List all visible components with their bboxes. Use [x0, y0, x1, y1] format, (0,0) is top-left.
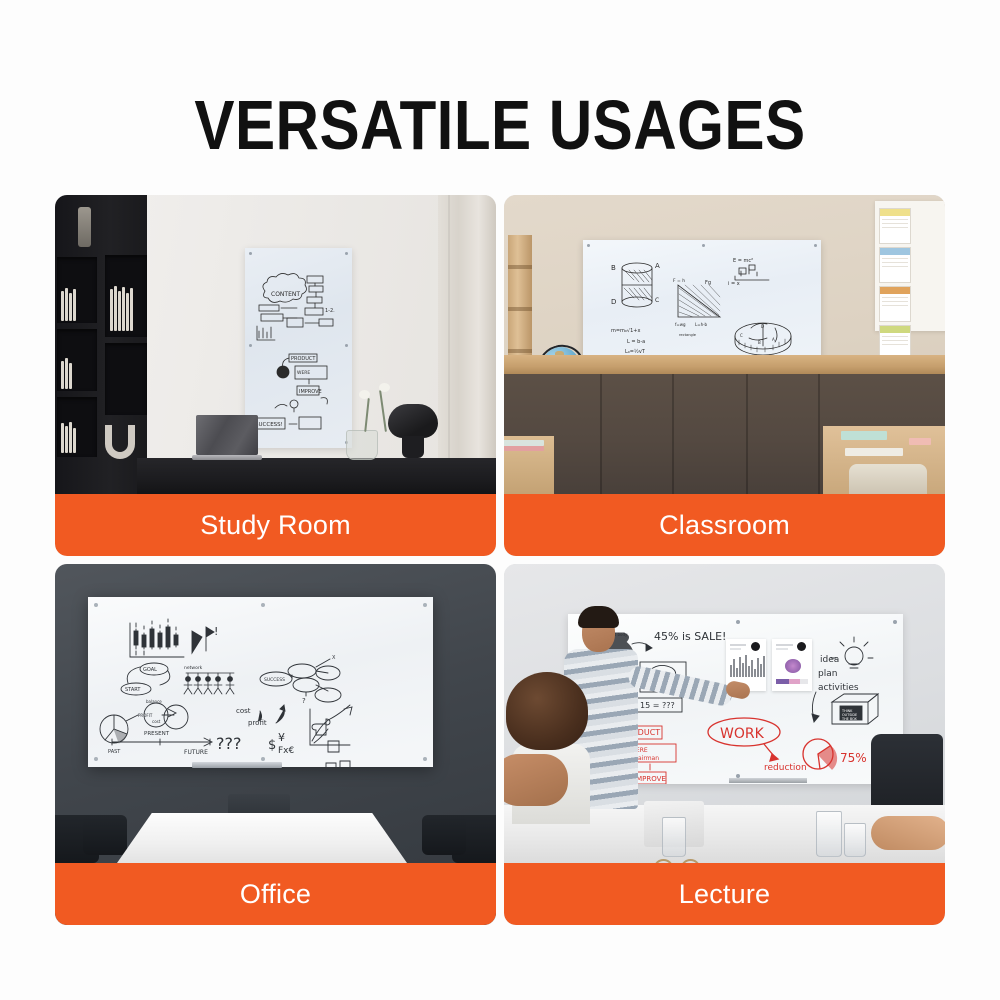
magnet-icon [797, 642, 806, 651]
svg-text:m=m₀√1+x: m=m₀√1+x [611, 328, 640, 334]
chart-card [879, 208, 911, 244]
student-desk-left [504, 436, 554, 494]
desk-lamp-base [402, 436, 424, 458]
water-glass [662, 817, 686, 857]
bookshelf [55, 195, 147, 507]
chart-card [879, 247, 911, 283]
water-glass [816, 811, 842, 857]
svg-text:START: START [125, 687, 141, 693]
svg-text:GOAL: GOAL [143, 667, 157, 673]
svg-text:F = h: F = h [673, 278, 685, 284]
foreground-hand [504, 754, 568, 806]
laptop [192, 415, 262, 460]
svg-text:i = x: i = x [728, 281, 740, 287]
svg-text:WERE: WERE [297, 370, 310, 376]
letter-u-decor [105, 425, 135, 459]
chair-left-2 [83, 815, 127, 855]
svg-text:plan: plan [818, 669, 837, 679]
svg-text:PRODUCT: PRODUCT [291, 356, 316, 362]
panel-label-office[interactable]: Office [55, 863, 496, 925]
svg-text:OUTSIDE: OUTSIDE [842, 713, 857, 717]
svg-text:idea: idea [820, 655, 839, 665]
svg-text:L=h-b: L=h-b [695, 322, 708, 327]
svg-text:FUTURE: FUTURE [184, 749, 208, 756]
desk-lamp-head [388, 404, 438, 438]
svg-text:15 = ???: 15 = ??? [640, 701, 675, 710]
books [61, 287, 76, 321]
books [110, 285, 133, 331]
svg-text:PAST: PAST [108, 749, 121, 755]
marker-tray [192, 762, 282, 768]
svg-text:PRESENT: PRESENT [144, 731, 170, 737]
svg-text:C: C [655, 297, 659, 304]
listener-hair [506, 672, 588, 750]
svg-text:D: D [611, 298, 616, 306]
svg-text:75%: 75% [840, 751, 867, 765]
svg-text:X: X [332, 655, 336, 661]
svg-text:1-2.: 1-2. [325, 308, 335, 314]
svg-text:B: B [611, 264, 616, 272]
svg-text:activities: activities [818, 683, 859, 693]
svg-text:f=wg: f=wg [675, 322, 686, 327]
svg-text:THE BOX: THE BOX [841, 717, 858, 721]
svg-text:reduction: reduction [764, 763, 807, 773]
svg-text:SUCCESS: SUCCESS [264, 677, 285, 683]
panel-classroom[interactable]: B A D C F = h Fg i = x f=wg L=h-b rectan… [504, 195, 945, 556]
flower [359, 390, 370, 399]
whiteboard-sketch: B A D C F = h Fg i = x f=wg L=h-b rectan… [583, 240, 821, 365]
flower [379, 383, 390, 392]
whiteboard-landscape: B A D C F = h Fg i = x f=wg L=h-b rectan… [583, 240, 821, 365]
svg-text:balance: balance [146, 699, 162, 704]
usage-panel-grid: CONTENT 1-2. PRODUCT [55, 195, 945, 933]
svg-text:D: D [761, 324, 764, 329]
chair [849, 464, 927, 494]
chart-card [879, 286, 911, 322]
books [61, 421, 76, 453]
books [61, 357, 72, 389]
panel-label-lecture[interactable]: Lecture [504, 863, 945, 925]
svg-text:A: A [772, 337, 775, 342]
svg-text:A: A [655, 262, 660, 270]
svg-text:network: network [184, 665, 203, 671]
desk [137, 458, 496, 494]
page-title: VERSATILE USAGES [70, 90, 930, 160]
svg-text:E = mc²: E = mc² [733, 258, 753, 264]
svg-text:L = b-a: L = b-a [627, 339, 645, 345]
svg-text:¥: ¥ [278, 731, 285, 744]
timetable-chart [875, 201, 945, 331]
bar-chart [730, 655, 765, 677]
panel-label-study-room[interactable]: Study Room [55, 494, 496, 556]
whiteboard-landscape: ! GOAL START network [88, 597, 433, 767]
panel-label-classroom[interactable]: Classroom [504, 494, 945, 556]
svg-text:Fg: Fg [705, 280, 711, 286]
conference-table [117, 813, 407, 863]
svg-text:$: $ [268, 738, 276, 753]
svg-text:PROFIT: PROFIT [138, 713, 153, 718]
svg-text:rectangle: rectangle [679, 333, 697, 337]
svg-text:profit: profit [248, 719, 267, 727]
panel-office[interactable]: ! GOAL START network [55, 564, 496, 925]
flower-vase [346, 430, 378, 460]
water-glass [844, 823, 866, 857]
whiteboard-sketch: ! GOAL START network [88, 597, 433, 767]
marker-tray [729, 778, 807, 783]
cabinet-top [504, 355, 945, 374]
svg-text:???: ??? [216, 734, 241, 753]
svg-text:cost: cost [152, 719, 161, 724]
panel-study-room[interactable]: CONTENT 1-2. PRODUCT [55, 195, 496, 556]
svg-text:THINK: THINK [841, 709, 853, 713]
presenter-hair [578, 606, 619, 628]
svg-text:CONTENT: CONTENT [271, 291, 300, 298]
svg-text:!: ! [214, 625, 218, 638]
svg-text:?: ? [302, 697, 306, 705]
magnet-icon [751, 642, 760, 651]
right-person-hand [871, 816, 945, 850]
svg-text:C: C [740, 333, 743, 338]
pinned-chart-right [772, 639, 812, 691]
svg-text:cost: cost [236, 707, 251, 715]
svg-text:IMPROVE: IMPROVE [634, 775, 666, 783]
svg-text:Fx€: Fx€ [278, 746, 295, 756]
panel-lecture[interactable]: $ At body 45% is SALE! item spec $ 15 = … [504, 564, 945, 925]
svg-text:IMPROVE: IMPROVE [299, 389, 322, 395]
shelf-cubby [105, 343, 147, 415]
svg-text:B: B [758, 340, 761, 345]
shelf-vase [78, 207, 91, 247]
svg-text:45% is SALE!: 45% is SALE! [654, 630, 726, 643]
svg-text:WORK: WORK [720, 726, 765, 742]
chair-right-2 [422, 815, 466, 855]
svg-text:L₀=½vT: L₀=½vT [625, 348, 646, 355]
